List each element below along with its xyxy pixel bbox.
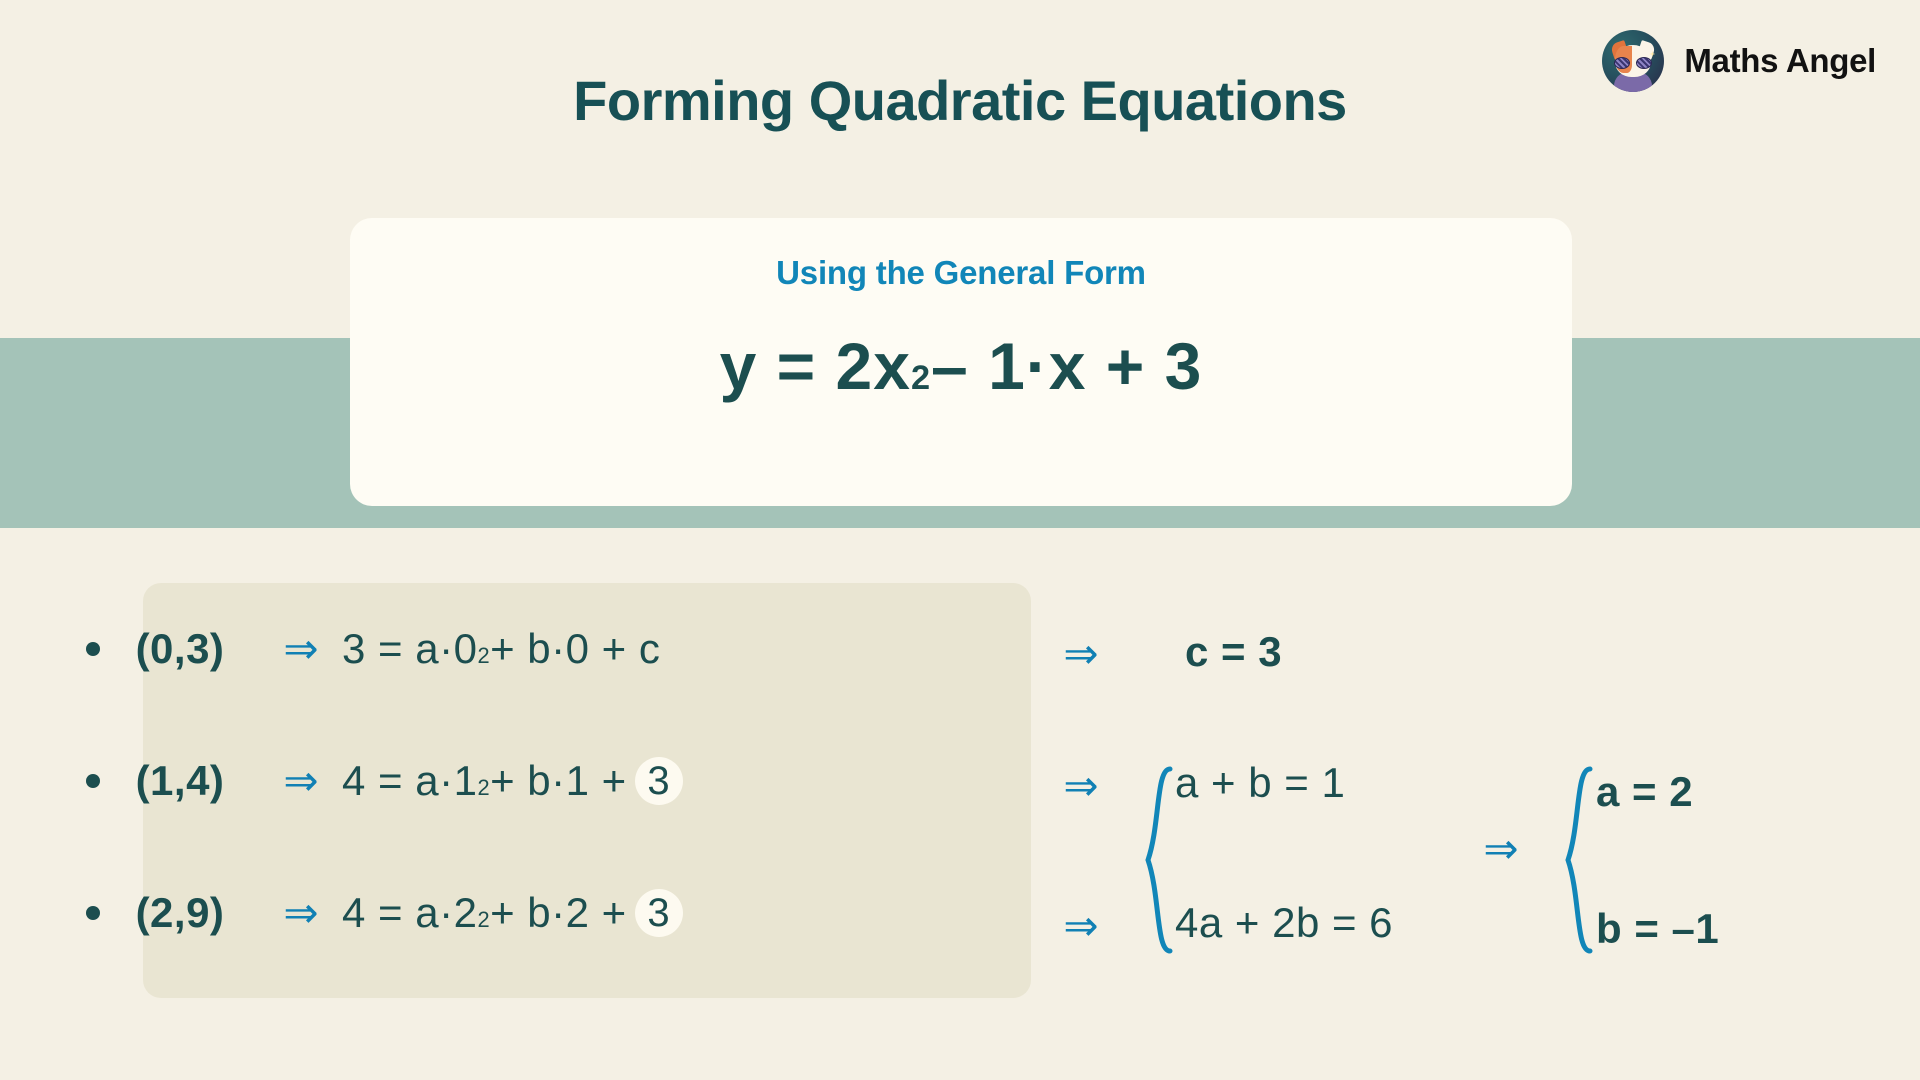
expr-pre: 3 = a·0 [342,625,477,673]
highlighted-constant-chip: 3 [635,889,683,937]
cat-mascot-icon [1602,30,1664,92]
infographic-page: Forming Quadratic Equations Maths Angel … [0,0,1920,1080]
implies-arrow-icon: ⇒ [1040,905,1122,947]
final-implies-arrow-icon: ⇒ [1460,828,1542,870]
bullet-icon [86,642,100,656]
system-equation-2: 4a + 2b = 6 [1175,899,1393,947]
system-equation-1: a + b = 1 [1175,759,1345,807]
expr-pre: 4 = a·1 [342,757,477,805]
substituted-expression: 4 = a·12 + b·1 + 3 [342,757,683,805]
implies-arrow-icon: ⇒ [260,760,342,802]
expr-post: + b·2 + [490,889,627,937]
lens-right [1636,57,1652,69]
solution-brace-right [1560,765,1594,955]
expr-post: + b·0 + c [490,625,660,673]
expr-exponent: 2 [477,775,490,801]
bullet-icon [86,906,100,920]
solution-a: a = 2 [1596,768,1693,816]
sunglasses-icon [1614,57,1652,69]
substituted-expression: 4 = a·22 + b·2 + 3 [342,889,683,937]
card-subtitle: Using the General Form [776,254,1146,292]
substituted-expression: 3 = a·02 + b·0 + c [342,625,660,673]
point-coordinates: (1,4) [100,757,260,805]
expr-exponent: 2 [477,643,490,669]
point-coordinates: (2,9) [100,889,260,937]
brand-name: Maths Angel [1684,42,1876,80]
lens-left [1614,57,1630,69]
general-form-equation: y = 2x2 – 1·x + 3 [720,328,1203,404]
expr-post: + b·1 + [490,757,627,805]
solution-b: b = –1 [1596,905,1719,953]
expr-exponent: 2 [477,907,490,933]
equation-exponent: 2 [911,359,931,398]
implies-arrow-icon: ⇒ [1040,765,1122,807]
equation-lhs: y = 2x [720,328,911,404]
substitution-row: (0,3) ⇒ 3 = a·02 + b·0 + c ⇒ c = 3 [0,583,1920,715]
bullet-icon [86,774,100,788]
implies-arrow-icon: ⇒ [260,628,342,670]
point-coordinates: (0,3) [100,625,260,673]
equation-rhs: – 1·x + 3 [931,328,1202,404]
implies-arrow-icon: ⇒ [260,892,342,934]
brand-logo: Maths Angel [1602,30,1876,92]
result-c: c = 3 [1185,628,1282,676]
highlighted-constant-chip: 3 [635,757,683,805]
expr-pre: 4 = a·2 [342,889,477,937]
implies-arrow-icon: ⇒ [1040,633,1122,675]
formula-card: Using the General Form y = 2x2 – 1·x + 3 [350,218,1572,506]
system-brace-left [1140,765,1174,955]
